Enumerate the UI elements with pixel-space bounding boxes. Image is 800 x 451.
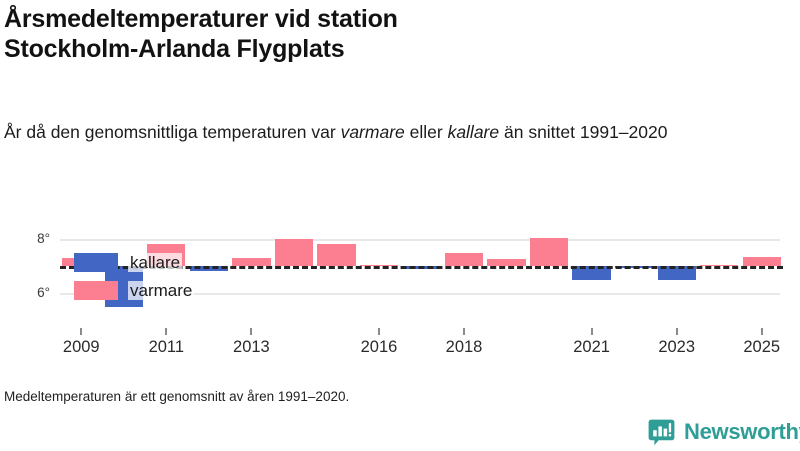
x-tick-2016 [378, 328, 380, 335]
x-tick-2011 [165, 328, 167, 335]
page-title: Årsmedeltemperaturer vid station Stockho… [4, 4, 704, 64]
x-tick-label-2011: 2011 [149, 338, 184, 357]
page-subtitle: År då den genomsnittliga temperaturen va… [4, 117, 784, 147]
x-tick-label-2023: 2023 [658, 338, 695, 357]
y-tick-label-6°: 6° [8, 286, 50, 299]
bar-chart-speech-bubble-icon [648, 419, 675, 446]
newsworthy-wordmark: Newsworthy [684, 421, 800, 443]
bar-2013[interactable] [232, 258, 270, 266]
chart-x-axis: 20092011201320162018202120232025 [0, 328, 800, 368]
chart-footnote: Medeltemperaturen är ett genomsnitt av å… [4, 389, 349, 404]
gridline-8° [60, 239, 780, 241]
x-tick-label-2013: 2013 [233, 338, 270, 357]
newsworthy-logo[interactable]: Newsworthy [648, 417, 800, 447]
x-tick-label-2009: 2009 [63, 338, 100, 357]
chart-plot-area: 6°8°kallarevarmare [0, 228, 800, 328]
bar-2019[interactable] [487, 259, 525, 266]
bar-2018[interactable] [445, 253, 483, 267]
x-tick-label-2016: 2016 [361, 338, 398, 357]
bar-2015[interactable] [317, 244, 355, 266]
bar-2020[interactable] [530, 238, 568, 266]
x-tick-2009 [80, 328, 82, 335]
x-tick-label-2025: 2025 [743, 338, 780, 357]
y-tick-label-8°: 8° [8, 232, 50, 245]
x-tick-2018 [463, 328, 465, 335]
legend-label-varmare: varmare [128, 281, 194, 300]
x-tick-2021 [591, 328, 593, 335]
subtitle-part-2: eller [405, 122, 448, 142]
subtitle-emphasis-colder: kallare [448, 122, 500, 142]
subtitle-part-1: År då den genomsnittliga temperaturen va… [4, 122, 341, 142]
legend-swatch-varmare [74, 281, 118, 300]
bar-2014[interactable] [275, 239, 313, 266]
subtitle-part-3: än snittet 1991–2020 [499, 122, 667, 142]
bar-2025[interactable] [743, 257, 781, 266]
chart-page: Årsmedeltemperaturer vid station Stockho… [0, 0, 800, 450]
x-tick-label-2021: 2021 [573, 338, 610, 357]
x-tick-2013 [250, 328, 252, 335]
x-tick-label-2018: 2018 [446, 338, 483, 357]
x-tick-2023 [676, 328, 678, 335]
legend-swatch-kallare [74, 253, 118, 272]
x-tick-2025 [761, 328, 763, 335]
subtitle-emphasis-warmer: varmare [341, 122, 405, 142]
legend-label-kallare: kallare [128, 253, 182, 272]
